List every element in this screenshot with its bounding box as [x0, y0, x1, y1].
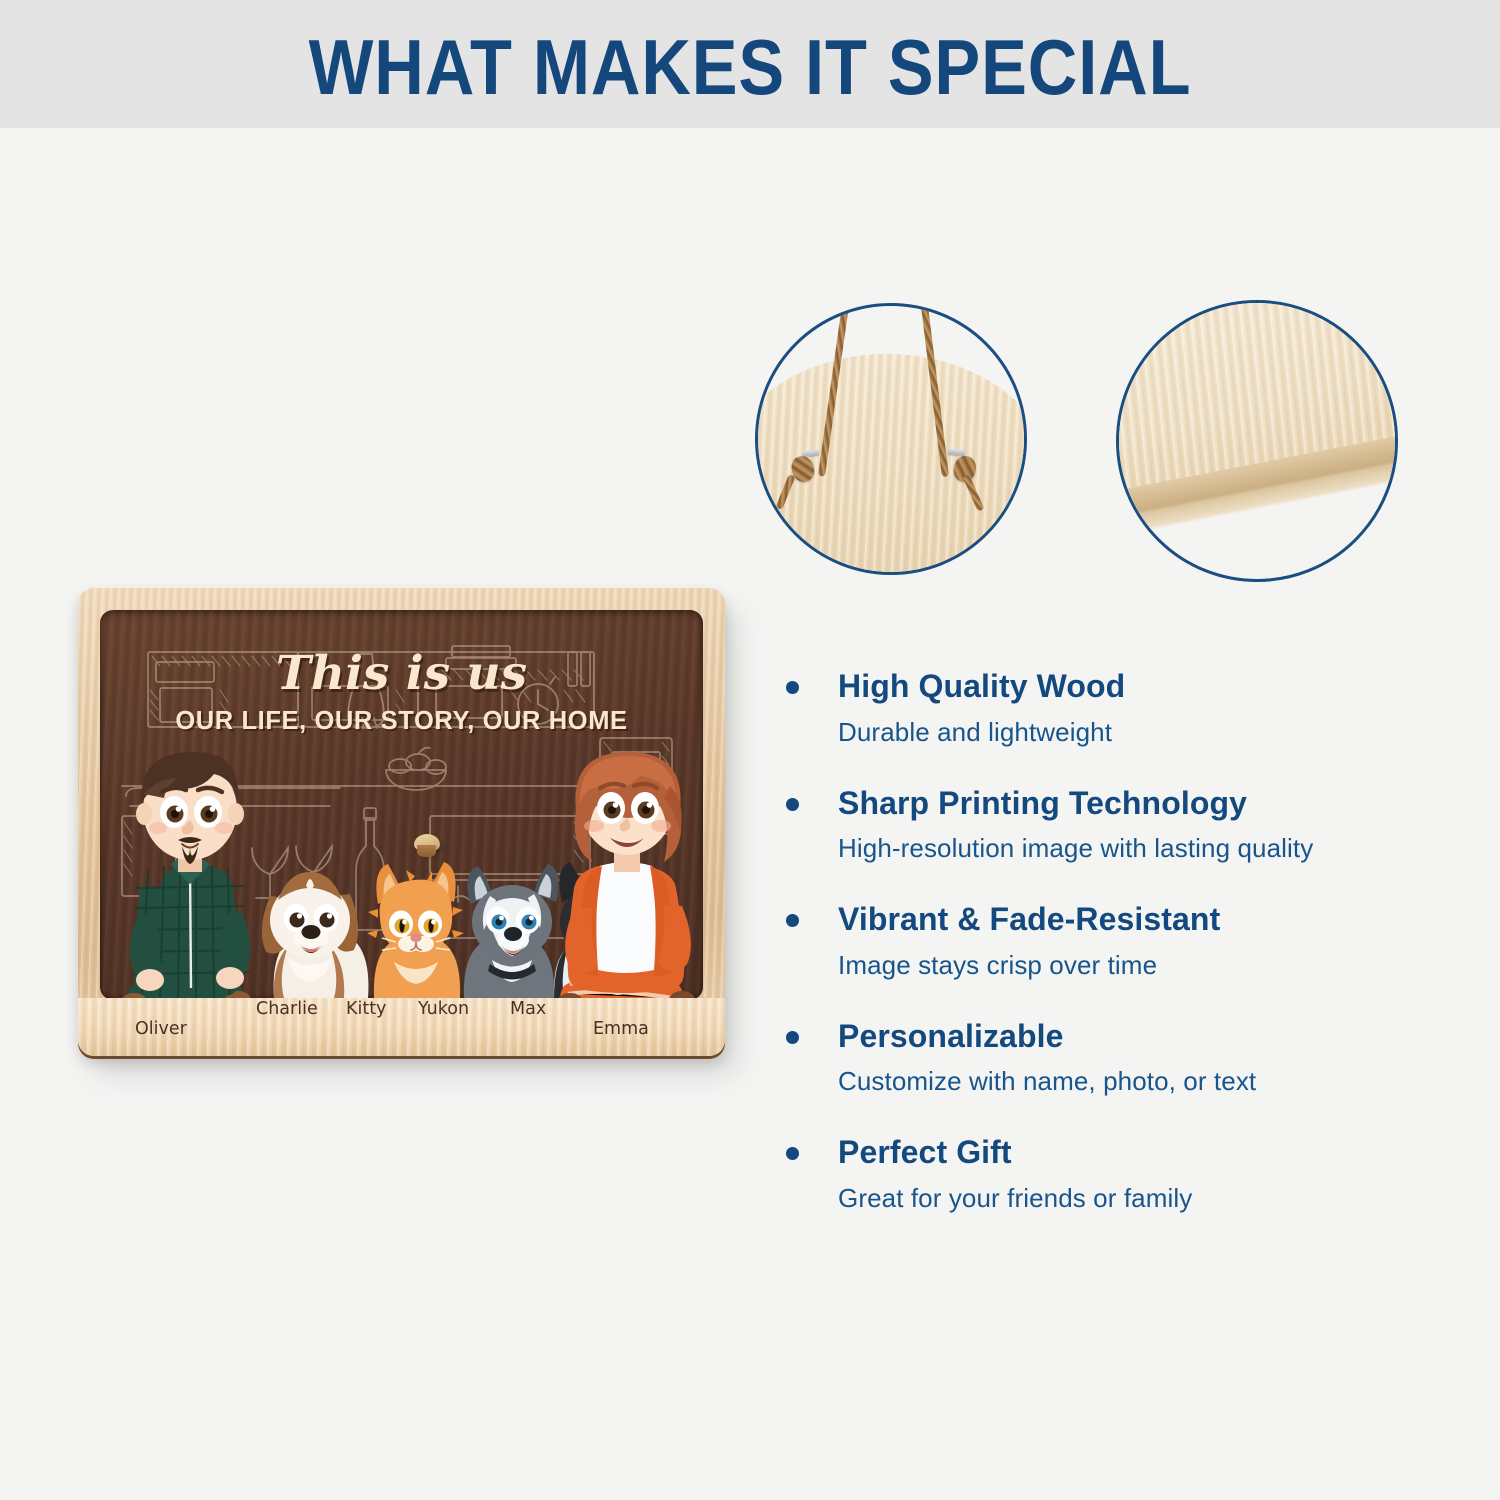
figure-charlie: [262, 872, 369, 998]
feature-item-high-quality-wood: High Quality Wood Durable and lightweigh…: [782, 668, 1442, 750]
name-label-yukon: Yukon: [418, 999, 469, 1019]
feature-description: Durable and lightweight: [838, 716, 1442, 750]
feature-item-perfect-gift: Perfect Gift Great for your friends or f…: [782, 1134, 1442, 1216]
bullet-dot-icon: [786, 681, 799, 694]
bullet-dot-icon: [786, 1147, 799, 1160]
detail-photo-wood-edge: [1116, 300, 1398, 582]
name-label-max: Max: [510, 999, 546, 1019]
figure-oliver: [121, 752, 251, 1013]
feature-description: Image stays crisp over time: [838, 949, 1442, 983]
name-label-kitty: Kitty: [346, 999, 386, 1019]
pet-name-labels: Oliver Charlie Kitty Yukon Max Emma: [78, 998, 725, 1056]
feature-description: Customize with name, photo, or text: [838, 1065, 1442, 1099]
bullet-dot-icon: [786, 914, 799, 927]
detail-photo-rope-hanger: [755, 303, 1027, 575]
feature-title: Sharp Printing Technology: [838, 785, 1442, 823]
feature-list: High Quality Wood Durable and lightweigh…: [782, 668, 1442, 1216]
feature-title: Perfect Gift: [838, 1134, 1442, 1172]
product-sign-mockup: This is us OUR LIFE, OUR STORY, OUR HOME: [40, 400, 740, 1100]
name-label-emma: Emma: [593, 1019, 649, 1039]
name-label-oliver: Oliver: [135, 1019, 187, 1039]
bullet-dot-icon: [786, 1031, 799, 1044]
wooden-peg-icon: [414, 834, 440, 852]
page-title: WHAT MAKES IT SPECIAL: [90, 22, 1410, 113]
feature-item-personalizable: Personalizable Customize with name, phot…: [782, 1018, 1442, 1100]
feature-title: High Quality Wood: [838, 668, 1442, 706]
figure-yukon: [464, 864, 559, 998]
feature-item-vibrant-fade-resistant: Vibrant & Fade-Resistant Image stays cri…: [782, 901, 1442, 983]
feature-title: Vibrant & Fade-Resistant: [838, 901, 1442, 939]
sign-board: This is us OUR LIFE, OUR STORY, OUR HOME: [78, 588, 725, 1056]
feature-description: High-resolution image with lasting quali…: [838, 832, 1442, 866]
figure-kitty: [367, 862, 464, 998]
feature-description: Great for your friends or family: [838, 1182, 1442, 1216]
figure-emma: [557, 752, 695, 1014]
family-and-pets-illustration: [78, 588, 725, 1056]
feature-item-sharp-printing-technology: Sharp Printing Technology High-resolutio…: [782, 785, 1442, 867]
bullet-dot-icon: [786, 798, 799, 811]
name-label-charlie: Charlie: [256, 999, 318, 1019]
feature-title: Personalizable: [838, 1018, 1442, 1056]
